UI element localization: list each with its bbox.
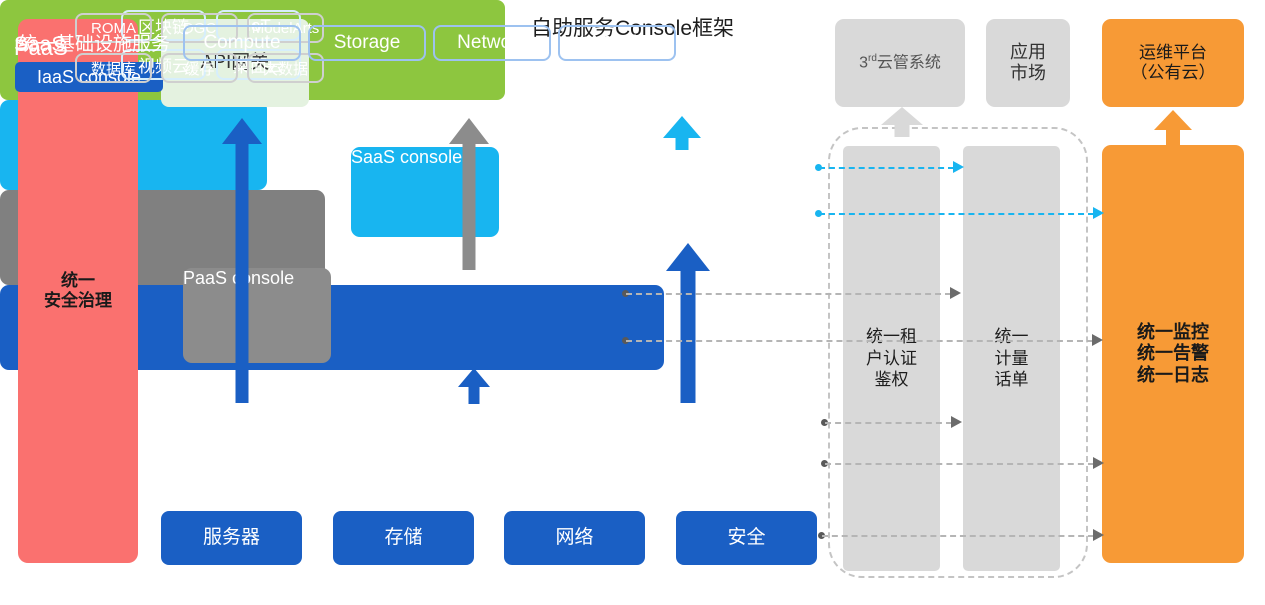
saas-from-infra-up-arrow-icon: [666, 243, 710, 403]
saas-to-auth-arrowhead-icon: [953, 161, 964, 173]
infra-item-storage[interactable]: Storage: [308, 25, 426, 61]
third-cloud-label: 3rd云管系统: [859, 53, 941, 73]
unified-security-governance-block[interactable]: 统一 安全治理: [18, 19, 138, 563]
third-cloud-superscript: rd: [868, 53, 877, 64]
ops-platform-line1: 运维平台: [1131, 43, 1216, 63]
third-cloud-prefix: 3: [859, 54, 868, 71]
auth-line2: 户认证: [866, 348, 917, 370]
meter-line2: 计量: [995, 348, 1029, 370]
auth-line1: 统一租: [866, 326, 917, 348]
app-market-block[interactable]: 应用 市场: [986, 19, 1070, 107]
app-market-line1: 应用: [1010, 42, 1046, 63]
third-cloud-suffix: 云管系统: [877, 54, 941, 71]
ops-platform-line2: （公有云）: [1131, 63, 1216, 83]
saas-to-ops-dashed-line: [819, 213, 1094, 215]
infra-layer-label: 统一基础设施服务: [18, 0, 170, 85]
paas-to-ops-dashed-line: [626, 340, 1093, 342]
ops-col-line1: 统一监控: [1137, 322, 1209, 343]
api-gateway-up-arrow-icon: [222, 118, 262, 403]
architecture-diagram: 统一 安全治理 API网关 自助服务Console框架 IaaS console…: [0, 0, 1265, 605]
saas-to-auth-dashed-line: [819, 167, 954, 169]
hardware-item-storage[interactable]: 存储: [333, 511, 474, 565]
ops-col-line3: 统一日志: [1137, 365, 1209, 386]
paas-to-auth-arrowhead-icon: [950, 287, 961, 299]
unified-tenant-auth-column[interactable]: 统一租 户认证 鉴权: [843, 146, 940, 571]
third-cloud-up-arrow-icon: [881, 107, 923, 137]
hardware-item-server[interactable]: 服务器: [161, 511, 302, 565]
meter-line3: 话单: [995, 369, 1029, 391]
infra-to-auth-arrowhead-icon: [951, 416, 962, 428]
third-party-cloud-management-block[interactable]: 3rd云管系统: [835, 19, 965, 107]
hardware-to-ops-dashed-line: [822, 535, 1094, 537]
saas-to-ops-arrowhead-icon: [1093, 207, 1104, 219]
infra-item-network[interactable]: Network: [433, 25, 551, 61]
infra-item-compute[interactable]: Compute: [183, 25, 301, 61]
hardware-item-network[interactable]: 网络: [504, 511, 645, 565]
paas-to-auth-dashed-line: [626, 293, 951, 295]
auth-line3: 鉴权: [866, 369, 917, 391]
ops-platform-up-arrow-icon: [1153, 110, 1193, 148]
governance-label-line2: 安全治理: [44, 291, 112, 311]
infra-to-auth-dashed-line: [825, 422, 952, 424]
hardware-item-security[interactable]: 安全: [676, 511, 817, 565]
ops-platform-public-cloud-block[interactable]: 运维平台 （公有云）: [1102, 19, 1244, 107]
infra-item-cce[interactable]: CCE: [558, 25, 676, 61]
unified-metering-billing-column[interactable]: 统一 计量 话单: [963, 146, 1060, 571]
ops-col-line2: 统一告警: [1137, 343, 1209, 364]
paas-from-infra-up-arrow-icon: [457, 368, 491, 404]
hardware-to-ops-arrowhead-icon: [1093, 529, 1104, 541]
paas-console-up-arrow-icon: [449, 118, 489, 270]
meter-line1: 统一: [995, 326, 1029, 348]
governance-label-line1: 统一: [44, 271, 112, 291]
infra-to-ops-arrowhead-icon: [1093, 457, 1104, 469]
infra-to-ops-dashed-line: [825, 463, 1094, 465]
app-market-line2: 市场: [1010, 63, 1046, 84]
unified-monitoring-column[interactable]: 统一监控 统一告警 统一日志: [1102, 145, 1244, 563]
paas-to-ops-arrowhead-icon: [1092, 334, 1103, 346]
saas-console-up-arrow-icon: [662, 116, 702, 150]
